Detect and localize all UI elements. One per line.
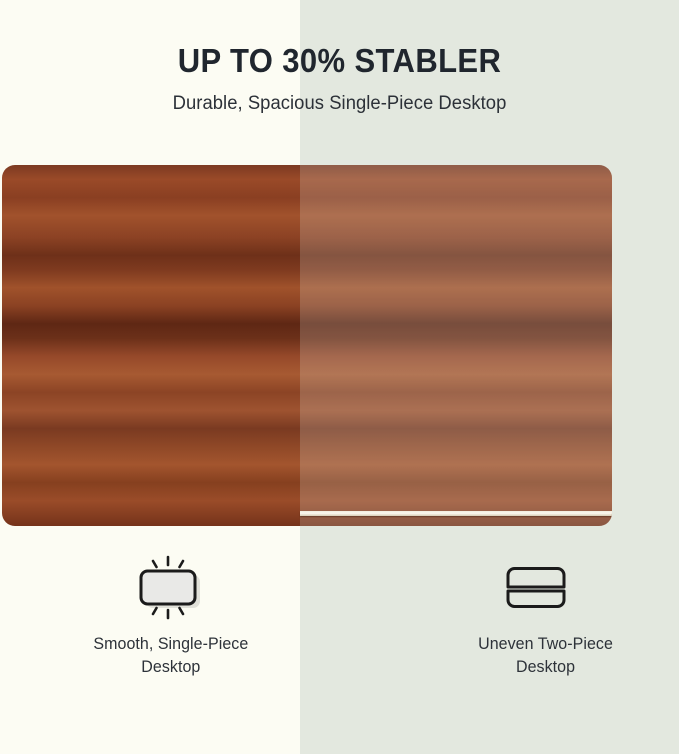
product-feature-panel: UP TO 30% STABLER Durable, Spacious Sing… — [0, 0, 679, 754]
hero-desk-image — [2, 165, 612, 526]
wood-grain-texture — [2, 165, 612, 526]
header: UP TO 30% STABLER Durable, Spacious Sing… — [0, 0, 679, 115]
icon-slot-left — [123, 545, 219, 633]
single-piece-desktop-icon — [123, 550, 219, 628]
icon-slot-right — [497, 545, 593, 633]
comparison-column-single-piece: Smooth, Single-Piece Desktop — [0, 545, 341, 754]
comparison-caption-two-piece: Uneven Two-Piece Desktop — [478, 633, 613, 680]
page-title: UP TO 30% STABLER — [20, 0, 658, 79]
two-piece-desktop-icon — [497, 550, 593, 628]
page-subtitle: Durable, Spacious Single-Piece Desktop — [10, 79, 669, 115]
comparison-row: Smooth, Single-Piece Desktop Uneven Two-… — [0, 545, 679, 754]
comparison-caption-single-piece: Smooth, Single-Piece Desktop — [93, 633, 248, 680]
comparison-column-two-piece: Uneven Two-Piece Desktop — [341, 545, 679, 754]
